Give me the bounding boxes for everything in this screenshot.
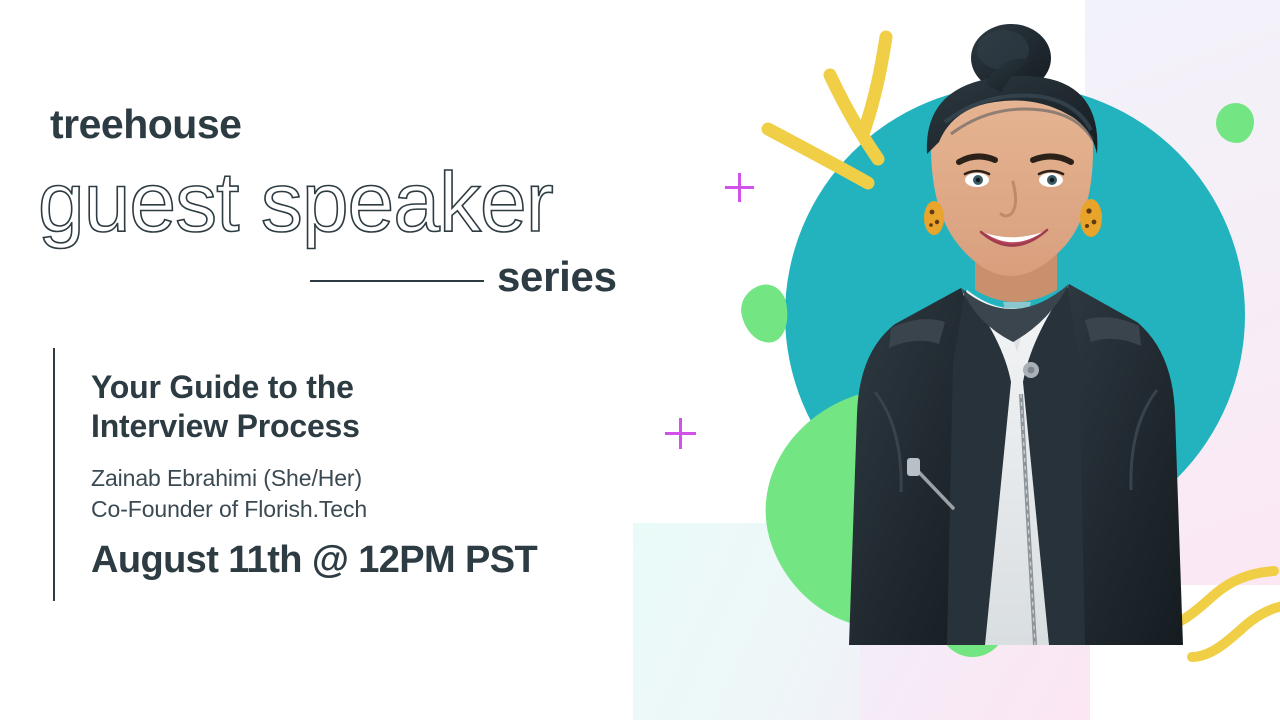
plus-mark-icon-lower <box>665 418 696 449</box>
series-headline: guest speaker <box>38 160 553 244</box>
brand-wordmark: treehouse <box>50 104 241 145</box>
event-datetime: August 11th @ 12PM PST <box>91 540 631 582</box>
green-blob-top-right <box>1216 103 1254 143</box>
artwork-area <box>620 0 1280 720</box>
talk-title: Your Guide to the Interview Process <box>91 368 631 446</box>
detail-vertical-rule <box>53 348 55 601</box>
text-column: treehouse guest speaker series Your Guid… <box>0 0 660 720</box>
series-suffix-label: series <box>497 256 617 298</box>
speaker-role: Co-Founder of Florish.Tech <box>91 494 631 525</box>
series-divider-rule <box>310 280 484 282</box>
speaker-portrait-photo <box>835 22 1195 645</box>
event-details-block: Your Guide to the Interview Process Zain… <box>91 368 631 582</box>
speaker-name: Zainab Ebrahimi (She/Her) <box>91 463 631 494</box>
talk-title-line-1: Your Guide to the <box>91 368 631 407</box>
plus-mark-icon-upper <box>725 173 754 202</box>
green-blob-small <box>736 281 793 347</box>
talk-title-line-2: Interview Process <box>91 407 631 446</box>
guest-speaker-promo-poster: treehouse guest speaker series Your Guid… <box>0 0 1280 720</box>
